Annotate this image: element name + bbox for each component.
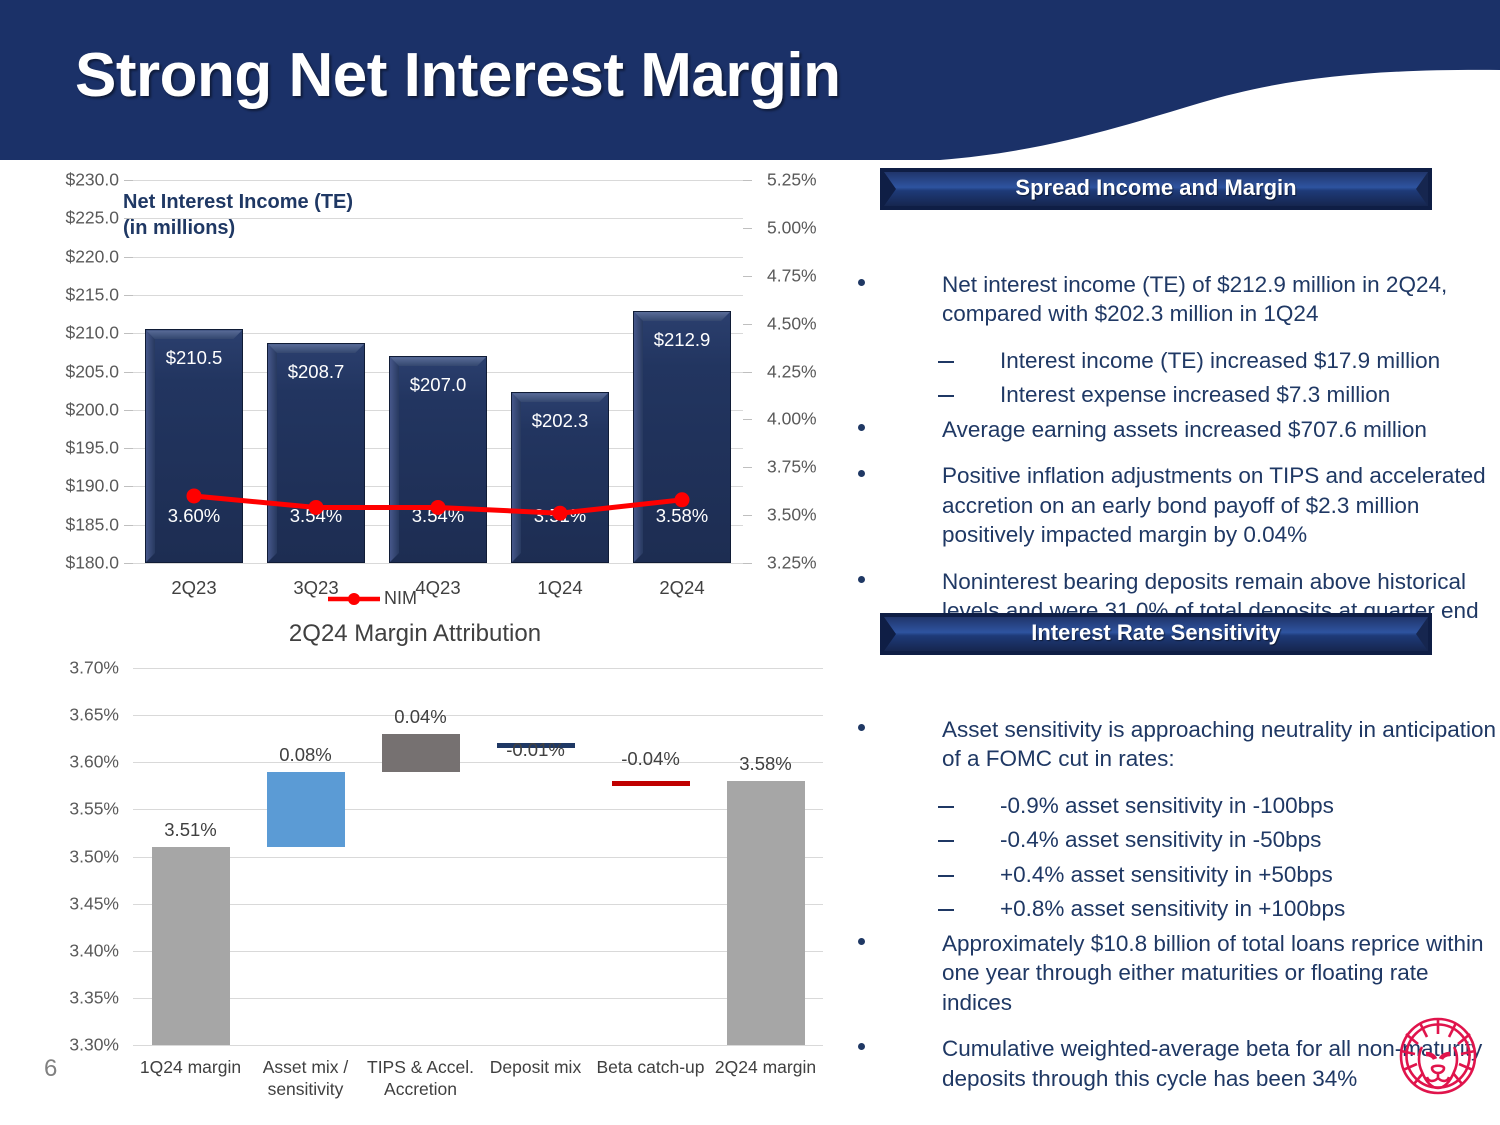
gridline [133,809,823,810]
bullet-dot-icon [858,1043,865,1050]
tick-mark [124,180,133,181]
waterfall-value-label: 0.08% [248,744,363,766]
sub-bullet-item: +0.4% asset sensitivity in +50bps [880,860,1500,889]
bullet-text: Average earning assets increased $707.6 … [942,417,1427,442]
bar-value-label: $212.9 [633,329,731,351]
waterfall-bar [382,734,460,772]
tick-mark [124,218,133,219]
gridline [133,563,743,564]
gridline [133,218,743,219]
sub-bullet-text: Interest expense increased $7.3 million [1000,382,1390,407]
tick-mark [124,448,133,449]
gridline [133,1045,823,1046]
tick-mark [743,372,752,373]
waterfall-bar [727,781,805,1045]
x-axis-category: Deposit mix [470,1057,601,1079]
sub-bullet-text: -0.9% asset sensitivity in -100bps [1000,793,1334,818]
bullet-text: Positive inflation adjustments on TIPS a… [942,463,1486,547]
bar-value-label: $207.0 [389,374,487,396]
y-axis-right-tick: 4.75% [767,265,817,286]
y-axis-tick: 3.70% [69,658,119,679]
legend-label-nim: NIM [384,588,417,609]
bar-nim-label: 3.58% [633,505,731,527]
tick-mark [743,324,752,325]
tick-mark [124,525,133,526]
y-axis-tick: 3.30% [69,1035,119,1056]
sub-bullet-item: -0.4% asset sensitivity in -50bps [880,825,1500,854]
bullet-dot-icon [858,470,865,477]
panel-spread-income-and-margin: Spread Income and MarginNet interest inc… [880,168,1500,581]
bar-nim-label: 3.54% [267,505,365,527]
dash-icon [938,875,954,877]
tick-mark [124,410,133,411]
gridline [133,668,823,669]
tick-mark [743,180,752,181]
commentary-column: Spread Income and MarginNet interest inc… [880,168,1500,1125]
x-axis-category: TIPS & Accel. Accretion [355,1057,486,1101]
bullet-dot-icon [858,424,865,431]
y-axis-left-tick: $180.0 [65,553,119,574]
dash-icon [938,395,954,397]
x-axis-category: 2Q24 margin [700,1057,831,1079]
waterfall-value-label: 3.51% [133,819,248,841]
bullet-item: Net interest income (TE) of $212.9 milli… [880,270,1500,329]
y-axis-right-tick: 4.25% [767,361,817,382]
sub-bullet-item: Interest expense increased $7.3 million [880,380,1500,409]
gridline [133,998,823,999]
page-number: 6 [44,1055,57,1083]
y-axis-tick: 3.50% [69,846,119,867]
gridline [133,857,823,858]
chart2-title: 2Q24 Margin Attribution [0,620,830,648]
net-interest-income-chart: Net Interest Income (TE) (in millions) $… [0,168,860,628]
chart1-plot-area: $180.0$185.0$190.0$195.0$200.0$205.0$210… [133,180,743,563]
margin-attribution-chart: 2Q24 Margin Attribution 3.30%3.35%3.40%3… [0,620,860,1125]
bullet-item: Positive inflation adjustments on TIPS a… [880,461,1500,549]
sub-bullet-item: +0.8% asset sensitivity in +100bps [880,894,1500,923]
tick-mark [743,467,752,468]
y-axis-right-tick: 4.00% [767,409,817,430]
waterfall-bar [612,781,690,786]
bullet-list: Net interest income (TE) of $212.9 milli… [880,270,1500,626]
bar-value-label: $210.5 [145,347,243,369]
banner-interest-rate-sensitivity: Interest Rate Sensitivity [880,613,1500,653]
sub-bullet-text: +0.4% asset sensitivity in +50bps [1000,862,1333,887]
dash-icon [938,840,954,842]
slide-header: Strong Net Interest Margin [0,0,1500,168]
sub-bullet-item: Interest income (TE) increased $17.9 mil… [880,346,1500,375]
charts-column: Net Interest Income (TE) (in millions) $… [0,168,860,1125]
waterfall-bar [152,847,230,1045]
y-axis-tick: 3.55% [69,799,119,820]
tick-mark [743,276,752,277]
bullet-text: Net interest income (TE) of $212.9 milli… [942,272,1447,326]
y-axis-tick: 3.45% [69,893,119,914]
x-axis-category: Beta catch-up [585,1057,716,1079]
sub-bullet-text: Interest income (TE) increased $17.9 mil… [1000,348,1440,373]
y-axis-tick: 3.65% [69,705,119,726]
dash-icon [938,361,954,363]
lion-head-logo [1388,1004,1488,1104]
bullet-text: Asset sensitivity is approaching neutral… [942,717,1496,771]
y-axis-left-tick: $215.0 [65,284,119,305]
tick-mark [124,372,133,373]
bar-nim-label: 3.60% [145,505,243,527]
y-axis-left-tick: $195.0 [65,438,119,459]
x-axis-category: Asset mix / sensitivity [240,1057,371,1101]
bullet-text: Approximately $10.8 billion of total loa… [942,931,1484,1015]
gridline [133,257,743,258]
bullet-dot-icon [858,279,865,286]
y-axis-right-tick: 5.25% [767,170,817,191]
y-axis-left-tick: $185.0 [65,514,119,535]
y-axis-right-tick: 3.75% [767,457,817,478]
tick-mark [124,563,133,564]
page-title: Strong Net Interest Margin [75,40,841,111]
y-axis-right-tick: 3.25% [767,553,817,574]
tick-mark [743,228,752,229]
sub-bullet-text: +0.8% asset sensitivity in +100bps [1000,896,1345,921]
banner-spread-income-and-margin: Spread Income and Margin [880,168,1500,208]
banner-label: Spread Income and Margin [880,168,1432,208]
y-axis-left-tick: $230.0 [65,170,119,191]
y-axis-tick: 3.60% [69,752,119,773]
tick-mark [743,419,752,420]
chart1-legend: NIM [0,588,743,611]
tick-mark [124,486,133,487]
y-axis-left-tick: $220.0 [65,246,119,267]
chart2-plot-area: 3.30%3.35%3.40%3.45%3.50%3.55%3.60%3.65%… [133,668,823,1045]
gridline [133,180,743,181]
waterfall-value-label: -0.01% [478,739,593,761]
bullet-item: Asset sensitivity is approaching neutral… [880,715,1500,774]
y-axis-right-tick: 4.50% [767,313,817,334]
bar-value-label: $202.3 [511,410,609,432]
gridline [133,951,823,952]
banner-label: Interest Rate Sensitivity [880,613,1432,653]
x-axis-category: 1Q24 margin [125,1057,256,1079]
bullet-item: Average earning assets increased $707.6 … [880,415,1500,444]
y-axis-tick: 3.40% [69,940,119,961]
y-axis-right-tick: 3.50% [767,505,817,526]
waterfall-bar [267,772,345,847]
gridline [133,904,823,905]
bar-nim-label: 3.54% [389,505,487,527]
y-axis-left-tick: $225.0 [65,208,119,229]
waterfall-value-label: 0.04% [363,706,478,728]
y-axis-right-tick: 5.00% [767,217,817,238]
bar-nim-label: 3.51% [511,505,609,527]
dash-icon [938,909,954,911]
bullet-dot-icon [858,938,865,945]
y-axis-left-tick: $205.0 [65,361,119,382]
y-axis-left-tick: $200.0 [65,399,119,420]
panel-interest-rate-sensitivity: Interest Rate SensitivityAsset sensitivi… [880,613,1500,1048]
nim-legend-swatch [326,592,382,606]
gridline [133,295,743,296]
y-axis-left-tick: $210.0 [65,323,119,344]
tick-mark [124,257,133,258]
tick-mark [743,515,752,516]
tick-mark [124,333,133,334]
tick-mark [743,563,752,564]
sub-bullet-item: -0.9% asset sensitivity in -100bps [880,791,1500,820]
bullet-dot-icon [858,724,865,731]
waterfall-value-label: 3.58% [708,753,823,775]
waterfall-value-label: -0.04% [593,748,708,770]
sub-bullet-text: -0.4% asset sensitivity in -50bps [1000,827,1321,852]
y-axis-left-tick: $190.0 [65,476,119,497]
gridline [133,715,823,716]
bullet-dot-icon [858,576,865,583]
bar-value-label: $208.7 [267,361,365,383]
dash-icon [938,806,954,808]
tick-mark [124,295,133,296]
y-axis-tick: 3.35% [69,987,119,1008]
